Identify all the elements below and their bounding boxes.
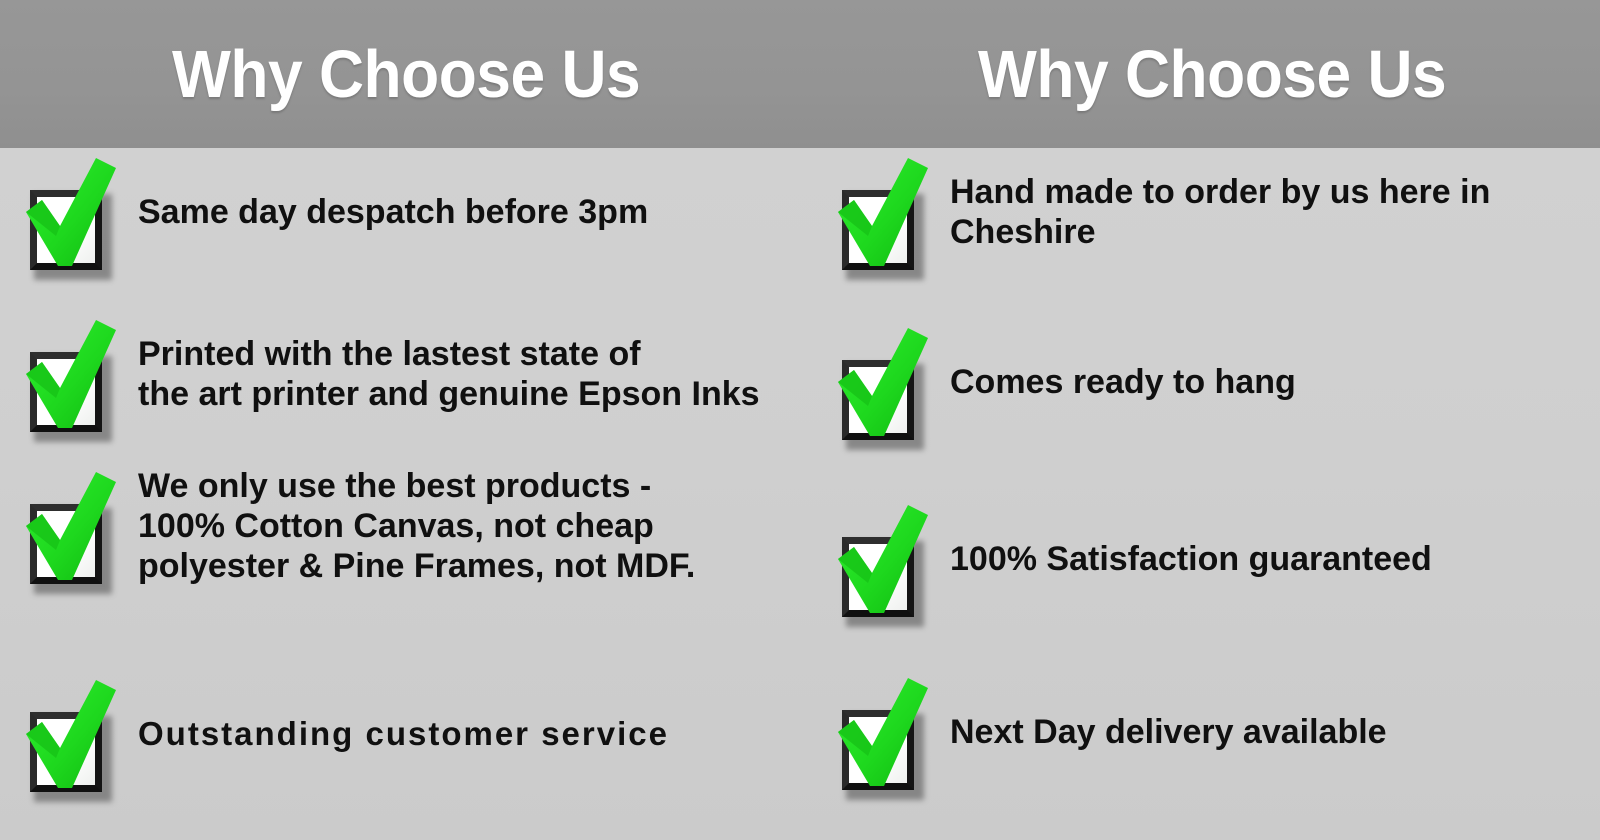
green-check-box-icon <box>20 156 120 268</box>
feature-item-left-2: Printed with the lastest state of the ar… <box>20 318 760 430</box>
header-half-right: Why Choose Us <box>800 0 1600 148</box>
green-check-box-icon <box>832 503 932 615</box>
feature-column-right: Hand made to order by us here in Cheshir… <box>800 148 1600 840</box>
header-band: Why Choose Us Why Choose Us <box>0 0 1600 148</box>
page-title-right: Why Choose Us <box>978 41 1446 108</box>
green-check-box-icon <box>832 156 932 268</box>
feature-item-right-3: 100% Satisfaction guaranteed <box>832 503 1432 615</box>
feature-item-left-4: Outstanding customer service <box>20 678 669 790</box>
why-choose-us-banner: Why Choose Us Why Choose Us <box>0 0 1600 840</box>
feature-column-left: Same day despatch before 3pm <box>0 148 800 840</box>
feature-item-left-1: Same day despatch before 3pm <box>20 156 648 268</box>
green-check-box-icon <box>832 326 932 438</box>
feature-columns: Same day despatch before 3pm <box>0 148 1600 840</box>
feature-item-right-4: Next Day delivery available <box>832 676 1387 788</box>
feature-label: Same day despatch before 3pm <box>138 192 648 232</box>
green-check-box-icon <box>20 678 120 790</box>
feature-item-right-1: Hand made to order by us here in Cheshir… <box>832 156 1490 268</box>
green-check-box-icon <box>20 318 120 430</box>
feature-label: We only use the best products - 100% Cot… <box>138 466 695 586</box>
feature-label: Comes ready to hang <box>950 362 1296 402</box>
header-half-left: Why Choose Us <box>0 0 800 148</box>
feature-label: Printed with the lastest state of the ar… <box>138 334 760 414</box>
feature-label: 100% Satisfaction guaranteed <box>950 539 1432 579</box>
feature-item-right-2: Comes ready to hang <box>832 326 1296 438</box>
feature-label: Outstanding customer service <box>138 715 669 754</box>
feature-label: Hand made to order by us here in Cheshir… <box>950 172 1490 252</box>
feature-label: Next Day delivery available <box>950 712 1387 752</box>
green-check-box-icon <box>20 470 120 582</box>
page-title-left: Why Choose Us <box>172 41 640 108</box>
feature-item-left-3: We only use the best products - 100% Cot… <box>20 466 695 586</box>
green-check-box-icon <box>832 676 932 788</box>
